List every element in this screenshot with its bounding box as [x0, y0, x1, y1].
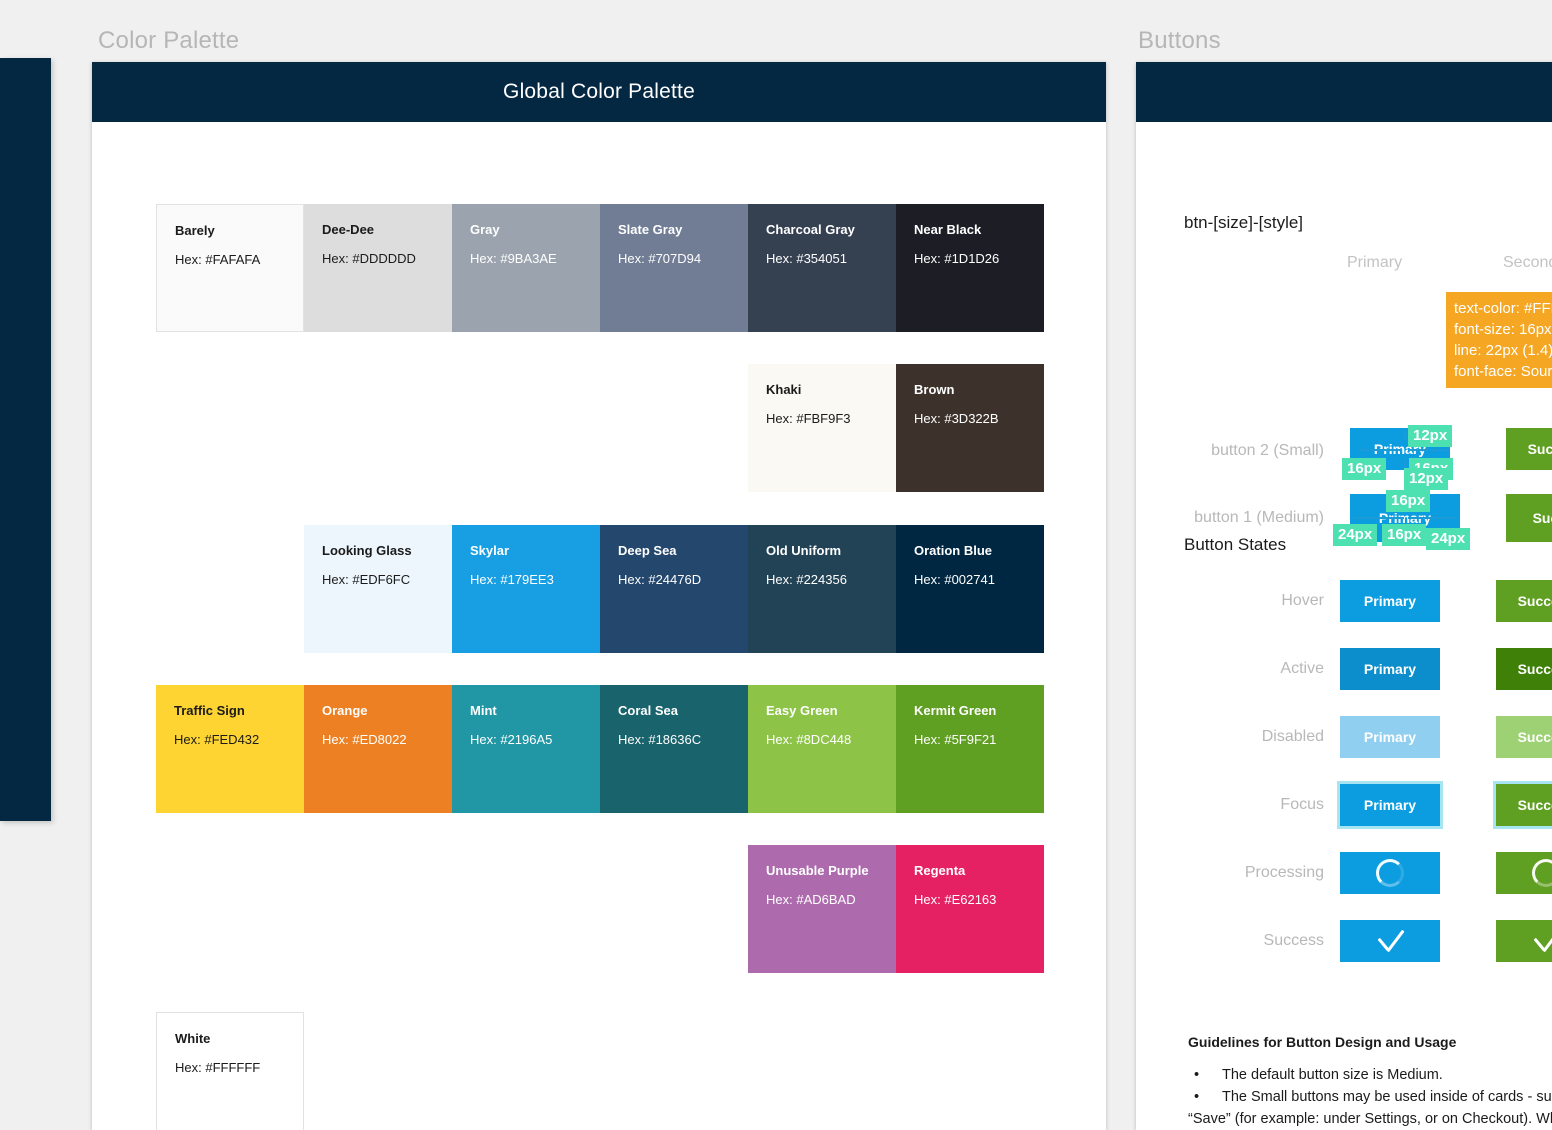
swatch-row: Looking GlassHex: #EDF6FCSkylarHex: #179… [304, 525, 1044, 653]
swatch-name: Mint [470, 703, 582, 718]
color-swatch: Slate GrayHex: #707D94 [600, 204, 748, 332]
color-swatch: Near BlackHex: #1D1D26 [896, 204, 1044, 332]
guideline-item: •The default button size is Medium. [1188, 1064, 1552, 1086]
button-success-primary[interactable] [1340, 920, 1440, 962]
swatch-name: Brown [914, 382, 1026, 397]
color-swatch: Charcoal GrayHex: #354051 [748, 204, 896, 332]
swatch-name: Coral Sea [618, 703, 730, 718]
state-row-label-active: Active [1164, 660, 1324, 678]
color-swatch: RegentaHex: #E62163 [896, 845, 1044, 973]
swatch-hex: Hex: #FED432 [174, 732, 286, 747]
color-palette-card: Global Color Palette BarelyHex: #FAFAFAD… [92, 62, 1106, 1130]
swatch-hex: Hex: #1D1D26 [914, 251, 1026, 266]
swatch-hex: Hex: #E62163 [914, 892, 1026, 907]
bullet-icon: • [1188, 1064, 1222, 1086]
spinner-icon [1532, 859, 1552, 887]
section-caption-buttons: Buttons [1138, 27, 1221, 55]
button-label: Success [1518, 797, 1552, 813]
color-swatch: SkylarHex: #179EE3 [452, 525, 600, 653]
swatch-row: BarelyHex: #FAFAFADee-DeeHex: #DDDDDDGra… [156, 204, 1044, 332]
buttons-card-header [1136, 62, 1552, 122]
color-swatch: Traffic SignHex: #FED432 [156, 685, 304, 813]
swatch-name: Charcoal Gray [766, 222, 878, 237]
color-swatch: Looking GlassHex: #EDF6FC [304, 525, 452, 653]
button-processing-primary[interactable] [1340, 852, 1440, 894]
state-row-label-success: Success [1164, 932, 1324, 950]
swatch-hex: Hex: #354051 [766, 251, 878, 266]
swatch-name: Easy Green [766, 703, 878, 718]
spec-line-text-color: text-color: #FFFFFF [1454, 298, 1552, 319]
swatch-name: Deep Sea [618, 543, 730, 558]
button-focus-secondary[interactable]: Success [1496, 784, 1552, 826]
screenshot-root: Color Palette Buttons Global Color Palet… [0, 0, 1552, 1130]
swatch-hex: Hex: #AD6BAD [766, 892, 878, 907]
color-swatch: Dee-DeeHex: #DDDDDD [304, 204, 452, 332]
swatch-hex: Hex: #707D94 [618, 251, 730, 266]
swatch-name: Oration Blue [914, 543, 1026, 558]
swatch-hex: Hex: #9BA3AE [470, 251, 582, 266]
measure-tick-small-left [1358, 449, 1402, 451]
button-processing-secondary[interactable] [1496, 852, 1552, 894]
swatch-hex: Hex: #EDF6FC [322, 572, 434, 587]
palette-card-header: Global Color Palette [92, 62, 1106, 122]
swatch-hex: Hex: #FAFAFA [175, 252, 285, 267]
swatch-hex: Hex: #5F9F21 [914, 732, 1026, 747]
swatch-name: Near Black [914, 222, 1026, 237]
swatch-name: White [175, 1031, 285, 1046]
chip-medium-padding-left: 24px [1333, 524, 1377, 546]
swatch-hex: Hex: #ED8022 [322, 732, 434, 747]
left-navy-panel [0, 58, 51, 821]
button-naming-convention-label: btn-[size]-[style] [1184, 212, 1304, 234]
chip-small-padding-bottom: 12px [1404, 468, 1448, 490]
color-swatch: Oration BlueHex: #002741 [896, 525, 1044, 653]
buttons-card: btn-[size]-[style] Button States Primary… [1136, 62, 1552, 1130]
swatch-name: Unusable Purple [766, 863, 878, 878]
button-focus-primary[interactable]: Primary [1340, 784, 1440, 826]
checkmark-icon [1531, 933, 1552, 949]
swatch-hex: Hex: #8DC448 [766, 732, 878, 747]
swatch-name: Slate Gray [618, 222, 730, 237]
state-row-label-focus: Focus [1164, 796, 1324, 814]
color-swatch: MintHex: #2196A5 [452, 685, 600, 813]
swatch-name: Looking Glass [322, 543, 434, 558]
color-swatch: Coral SeaHex: #18636C [600, 685, 748, 813]
button-label: Success [1518, 661, 1552, 677]
button-disabled-secondary[interactable]: Success [1496, 716, 1552, 758]
button-label: Primary [1364, 729, 1416, 745]
guideline-text-1: The default button size is Medium. [1222, 1067, 1443, 1083]
swatch-hex: Hex: #DDDDDD [322, 251, 434, 266]
state-row-label-processing: Processing [1164, 864, 1324, 882]
color-swatch: BarelyHex: #FAFAFA [156, 204, 304, 332]
swatch-hex: Hex: #2196A5 [470, 732, 582, 747]
swatch-hex: Hex: #24476D [618, 572, 730, 587]
button-small-secondary-label: Success [1528, 441, 1552, 457]
size-row-label-small: button 2 (Small) [1164, 442, 1324, 460]
button-medium-secondary[interactable]: Success [1506, 494, 1552, 542]
chip-medium-padding-bottom: 16px [1382, 524, 1426, 546]
swatch-hex: Hex: #179EE3 [470, 572, 582, 587]
button-label: Success [1518, 593, 1552, 609]
color-swatch: Old UniformHex: #224356 [748, 525, 896, 653]
spec-line-font-size: font-size: 16px [1454, 319, 1552, 340]
measure-tick-small-right [1408, 449, 1450, 451]
swatch-row: WhiteHex: #FFFFFF [156, 1012, 304, 1130]
state-row-label-disabled: Disabled [1164, 728, 1324, 746]
state-row-label-hover: Hover [1164, 592, 1324, 610]
swatch-hex: Hex: #FFFFFF [175, 1060, 285, 1075]
swatch-name: Dee-Dee [322, 222, 434, 237]
button-label: Success [1518, 729, 1552, 745]
palette-swatch-area: BarelyHex: #FAFAFADee-DeeHex: #DDDDDDGra… [92, 122, 1106, 1130]
button-label: Primary [1364, 797, 1416, 813]
typography-spec-callout: text-color: #FFFFFF font-size: 16px line… [1446, 292, 1552, 388]
button-label: Primary [1364, 661, 1416, 677]
chip-medium-padding-top: 16px [1386, 490, 1430, 512]
button-hover-primary[interactable]: Primary [1340, 580, 1440, 622]
swatch-name: Regenta [914, 863, 1026, 878]
swatch-hex: Hex: #002741 [914, 572, 1026, 587]
swatch-name: Khaki [766, 382, 878, 397]
button-hover-secondary[interactable]: Success [1496, 580, 1552, 622]
swatch-name: Orange [322, 703, 434, 718]
column-header-primary: Primary [1347, 254, 1402, 272]
guideline-item: •The Small buttons may be used inside of… [1188, 1086, 1552, 1130]
swatch-name: Barely [175, 223, 285, 238]
button-label: Primary [1364, 593, 1416, 609]
chip-medium-padding-right: 24px [1426, 528, 1470, 550]
button-medium-secondary-label: Success [1533, 510, 1552, 526]
color-swatch: KhakiHex: #FBF9F3 [748, 364, 896, 492]
swatch-hex: Hex: #FBF9F3 [766, 411, 878, 426]
spec-line-font-face: font-face: Source [1454, 361, 1552, 382]
color-swatch: WhiteHex: #FFFFFF [156, 1012, 304, 1130]
button-active-primary[interactable]: Primary [1340, 648, 1440, 690]
button-states-label: Button States [1184, 534, 1304, 556]
swatch-hex: Hex: #18636C [618, 732, 730, 747]
section-caption-color-palette: Color Palette [98, 27, 239, 55]
color-swatch: Kermit GreenHex: #5F9F21 [896, 685, 1044, 813]
swatch-row: KhakiHex: #FBF9F3BrownHex: #3D322B [748, 364, 1044, 492]
color-swatch: BrownHex: #3D322B [896, 364, 1044, 492]
checkmark-icon [1375, 933, 1405, 949]
button-guidelines: Guidelines for Button Design and Usage •… [1188, 1034, 1552, 1130]
color-swatch: Unusable PurpleHex: #AD6BAD [748, 845, 896, 973]
measure-tick-medium-right [1408, 517, 1456, 519]
color-swatch: Easy GreenHex: #8DC448 [748, 685, 896, 813]
color-swatch: GrayHex: #9BA3AE [452, 204, 600, 332]
button-disabled-primary[interactable]: Primary [1340, 716, 1440, 758]
chip-small-padding-left: 16px [1342, 458, 1386, 480]
spinner-icon [1376, 859, 1404, 887]
size-row-label-medium: button 1 (Medium) [1164, 509, 1324, 527]
measure-tick-small-top [1404, 428, 1406, 440]
color-swatch: Deep SeaHex: #24476D [600, 525, 748, 653]
buttons-content-area: btn-[size]-[style] Button States Primary… [1136, 122, 1552, 1130]
measure-tick-medium-left [1354, 517, 1404, 519]
swatch-hex: Hex: #224356 [766, 572, 878, 587]
button-active-secondary[interactable]: Success [1496, 648, 1552, 690]
swatch-name: Traffic Sign [174, 703, 286, 718]
bullet-icon: • [1188, 1086, 1222, 1108]
swatch-row: Unusable PurpleHex: #AD6BADRegentaHex: #… [748, 845, 1044, 973]
chip-small-padding-top: 12px [1408, 425, 1452, 447]
swatch-row: Traffic SignHex: #FED432OrangeHex: #ED80… [156, 685, 1044, 813]
swatch-name: Gray [470, 222, 582, 237]
swatch-name: Kermit Green [914, 703, 1026, 718]
swatch-name: Skylar [470, 543, 582, 558]
guideline-text-2: The Small buttons may be used inside of … [1188, 1089, 1552, 1130]
button-success-secondary[interactable] [1496, 920, 1552, 962]
palette-card-title: Global Color Palette [503, 80, 695, 104]
guidelines-title: Guidelines for Button Design and Usage [1188, 1034, 1552, 1050]
spec-line-line-height: line: 22px (1.4) [1454, 340, 1552, 361]
button-small-secondary[interactable]: Success [1506, 428, 1552, 470]
swatch-hex: Hex: #3D322B [914, 411, 1026, 426]
column-header-secondary: Secondary [1503, 254, 1552, 272]
swatch-name: Old Uniform [766, 543, 878, 558]
color-swatch: OrangeHex: #ED8022 [304, 685, 452, 813]
